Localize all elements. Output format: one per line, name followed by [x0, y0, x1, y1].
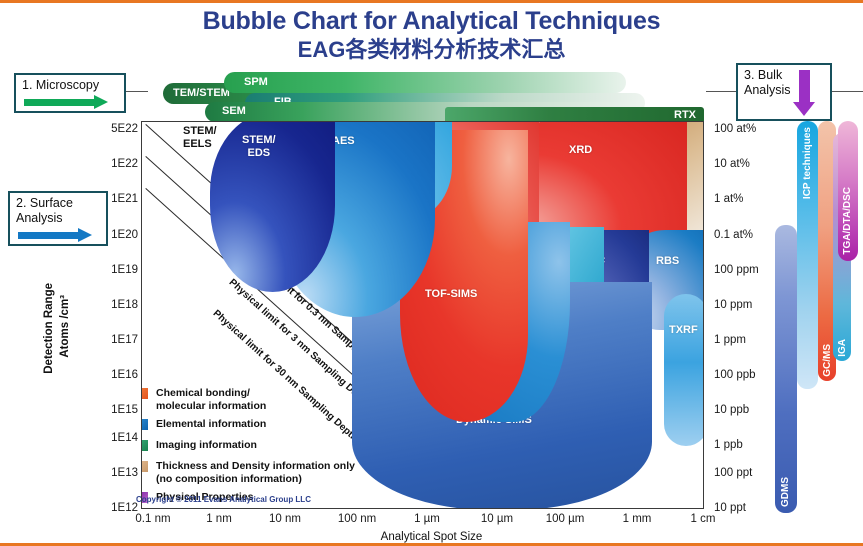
legend-label-2: Imaging information — [156, 439, 257, 451]
x-tick-7: 1 mm — [602, 513, 672, 525]
bubble-xrd-label: XRD — [569, 144, 592, 157]
legend-label-1: Elemental information — [156, 418, 266, 430]
vbar-tga-dta-dsc-label: TGA/DTA/DSC — [842, 187, 853, 255]
x-tick-5: 10 µm — [462, 513, 532, 525]
legend-item-2: Imaging information — [141, 439, 417, 453]
legend-label-0: Chemical bonding/ molecular information — [156, 387, 417, 412]
bubble-rbs-label: RBS — [656, 255, 679, 268]
legend-swatch-2 — [141, 440, 148, 451]
legend-item-0: Chemical bonding/ molecular information — [141, 387, 417, 412]
topbar-spm: SPM — [224, 72, 626, 93]
x-tick-8: 1 cm — [668, 513, 738, 525]
legend-item-1: Elemental information — [141, 418, 417, 432]
y-tick-left-9: 1E14 — [86, 432, 138, 444]
legend-label-3-l1: Thickness and Density information only — [156, 460, 355, 472]
y-axis-title-line2: Atoms /cm³ — [59, 295, 71, 358]
bubble-txrf-label: TXRF — [669, 324, 698, 337]
y-axis-title-line1: Detection Range — [43, 283, 55, 374]
legend-label-0-l2: molecular information — [156, 400, 266, 412]
legend-swatch-3 — [141, 461, 148, 472]
y-tick-right-7: 100 ppb — [714, 369, 776, 381]
x-axis-title: Analytical Spot Size — [0, 531, 863, 543]
y-tick-right-2: 1 at% — [714, 193, 776, 205]
y-tick-right-3: 0.1 at% — [714, 229, 776, 241]
y-tick-right-1: 10 at% — [714, 158, 776, 170]
x-tick-4: 1 µm — [392, 513, 462, 525]
x-tick-6: 100 µm — [530, 513, 600, 525]
legend-item-3: Thickness and Density information only (… — [141, 460, 417, 485]
x-axis-ticks: 0.1 nm 1 nm 10 nm 100 nm 1 µm 10 µm 100 … — [0, 513, 863, 533]
y-tick-left-7: 1E16 — [86, 369, 138, 381]
y-tick-left-1: 1E22 — [86, 158, 138, 170]
chart-legend: Chemical bonding/ molecular information … — [141, 387, 417, 509]
bubble-stem-eels-l1: STEM/ — [183, 125, 217, 137]
y-tick-left-6: 1E17 — [86, 334, 138, 346]
bulk-arrow-icon — [793, 70, 817, 116]
y-tick-right-9: 1 ppb — [714, 439, 776, 451]
x-tick-3: 100 nm — [322, 513, 392, 525]
y-tick-left-5: 1E18 — [86, 299, 138, 311]
vbar-iga-label: IGA — [837, 339, 848, 357]
plot-area: Physical limit for 0.3 nm Sampling Depth… — [141, 121, 704, 509]
y-axis-left-ticks: 5E22 1E22 1E21 1E20 1E19 1E18 1E17 1E16 … — [78, 3, 138, 546]
legend-swatch-0 — [141, 388, 148, 399]
vbar-gdms-label: GDMS — [780, 477, 791, 507]
bubble-stem-eels-l2: EELS — [183, 138, 212, 150]
vbar-tga-dta-dsc: TGA/DTA/DSC — [838, 121, 858, 261]
legend-label-3: Thickness and Density information only (… — [156, 460, 417, 485]
vbar-icp-techniques-label: ICP techniques — [802, 127, 813, 199]
bubble-stem-eels-label: STEM/ EELS — [183, 125, 217, 150]
x-tick-2: 10 nm — [250, 513, 320, 525]
legend-swatch-1 — [141, 419, 148, 430]
y-tick-right-6: 1 ppm — [714, 334, 776, 346]
y-tick-left-8: 1E15 — [86, 404, 138, 416]
legend-label-3-l2: (no composition information) — [156, 473, 302, 485]
topbar-spm-label: SPM — [244, 72, 268, 92]
y-tick-right-0: 100 at% — [714, 123, 776, 135]
bubble-tof-sims-label: TOF-SIMS — [425, 288, 477, 301]
x-tick-0: 0.1 nm — [118, 513, 188, 525]
vbar-icp-techniques: ICP techniques — [797, 121, 818, 389]
topbar-sem-label: SEM — [222, 102, 246, 121]
y-tick-left-4: 1E19 — [86, 264, 138, 276]
y-axis-title-units: Atoms /cm³ — [58, 295, 72, 358]
y-tick-left-3: 1E20 — [86, 229, 138, 241]
bubble-aes-label: AES — [332, 135, 355, 148]
y-tick-right-4: 100 ppm — [714, 264, 776, 276]
bubble-txrf: TXRF — [664, 294, 704, 446]
y-tick-left-0: 5E22 — [86, 123, 138, 135]
y-tick-right-5: 10 ppm — [714, 299, 776, 311]
y-tick-right-8: 10 ppb — [714, 404, 776, 416]
y-axis-right-ticks: 100 at% 10 at% 1 at% 0.1 at% 100 ppm 10 … — [714, 3, 784, 546]
y-tick-right-10: 100 ppt — [714, 467, 776, 479]
y-tick-left-10: 1E13 — [86, 467, 138, 479]
legend-label-0-l1: Chemical bonding/ — [156, 387, 250, 399]
callout-bulk-leader-right — [832, 91, 863, 92]
y-tick-left-2: 1E21 — [86, 193, 138, 205]
copyright-notice: Copyright © 2011 Evans Analytical Group … — [136, 495, 311, 504]
vbar-gc-ms-label: GC/MS — [822, 344, 833, 377]
topbar-tem-stem-label: TEM/STEM — [173, 83, 230, 103]
y-axis-title: Detection Range — [42, 283, 56, 374]
x-tick-1: 1 nm — [184, 513, 254, 525]
vbar-gdms: GDMS — [775, 225, 797, 513]
bubble-chart-page: Bubble Chart for Analytical Techniques E… — [0, 0, 863, 546]
